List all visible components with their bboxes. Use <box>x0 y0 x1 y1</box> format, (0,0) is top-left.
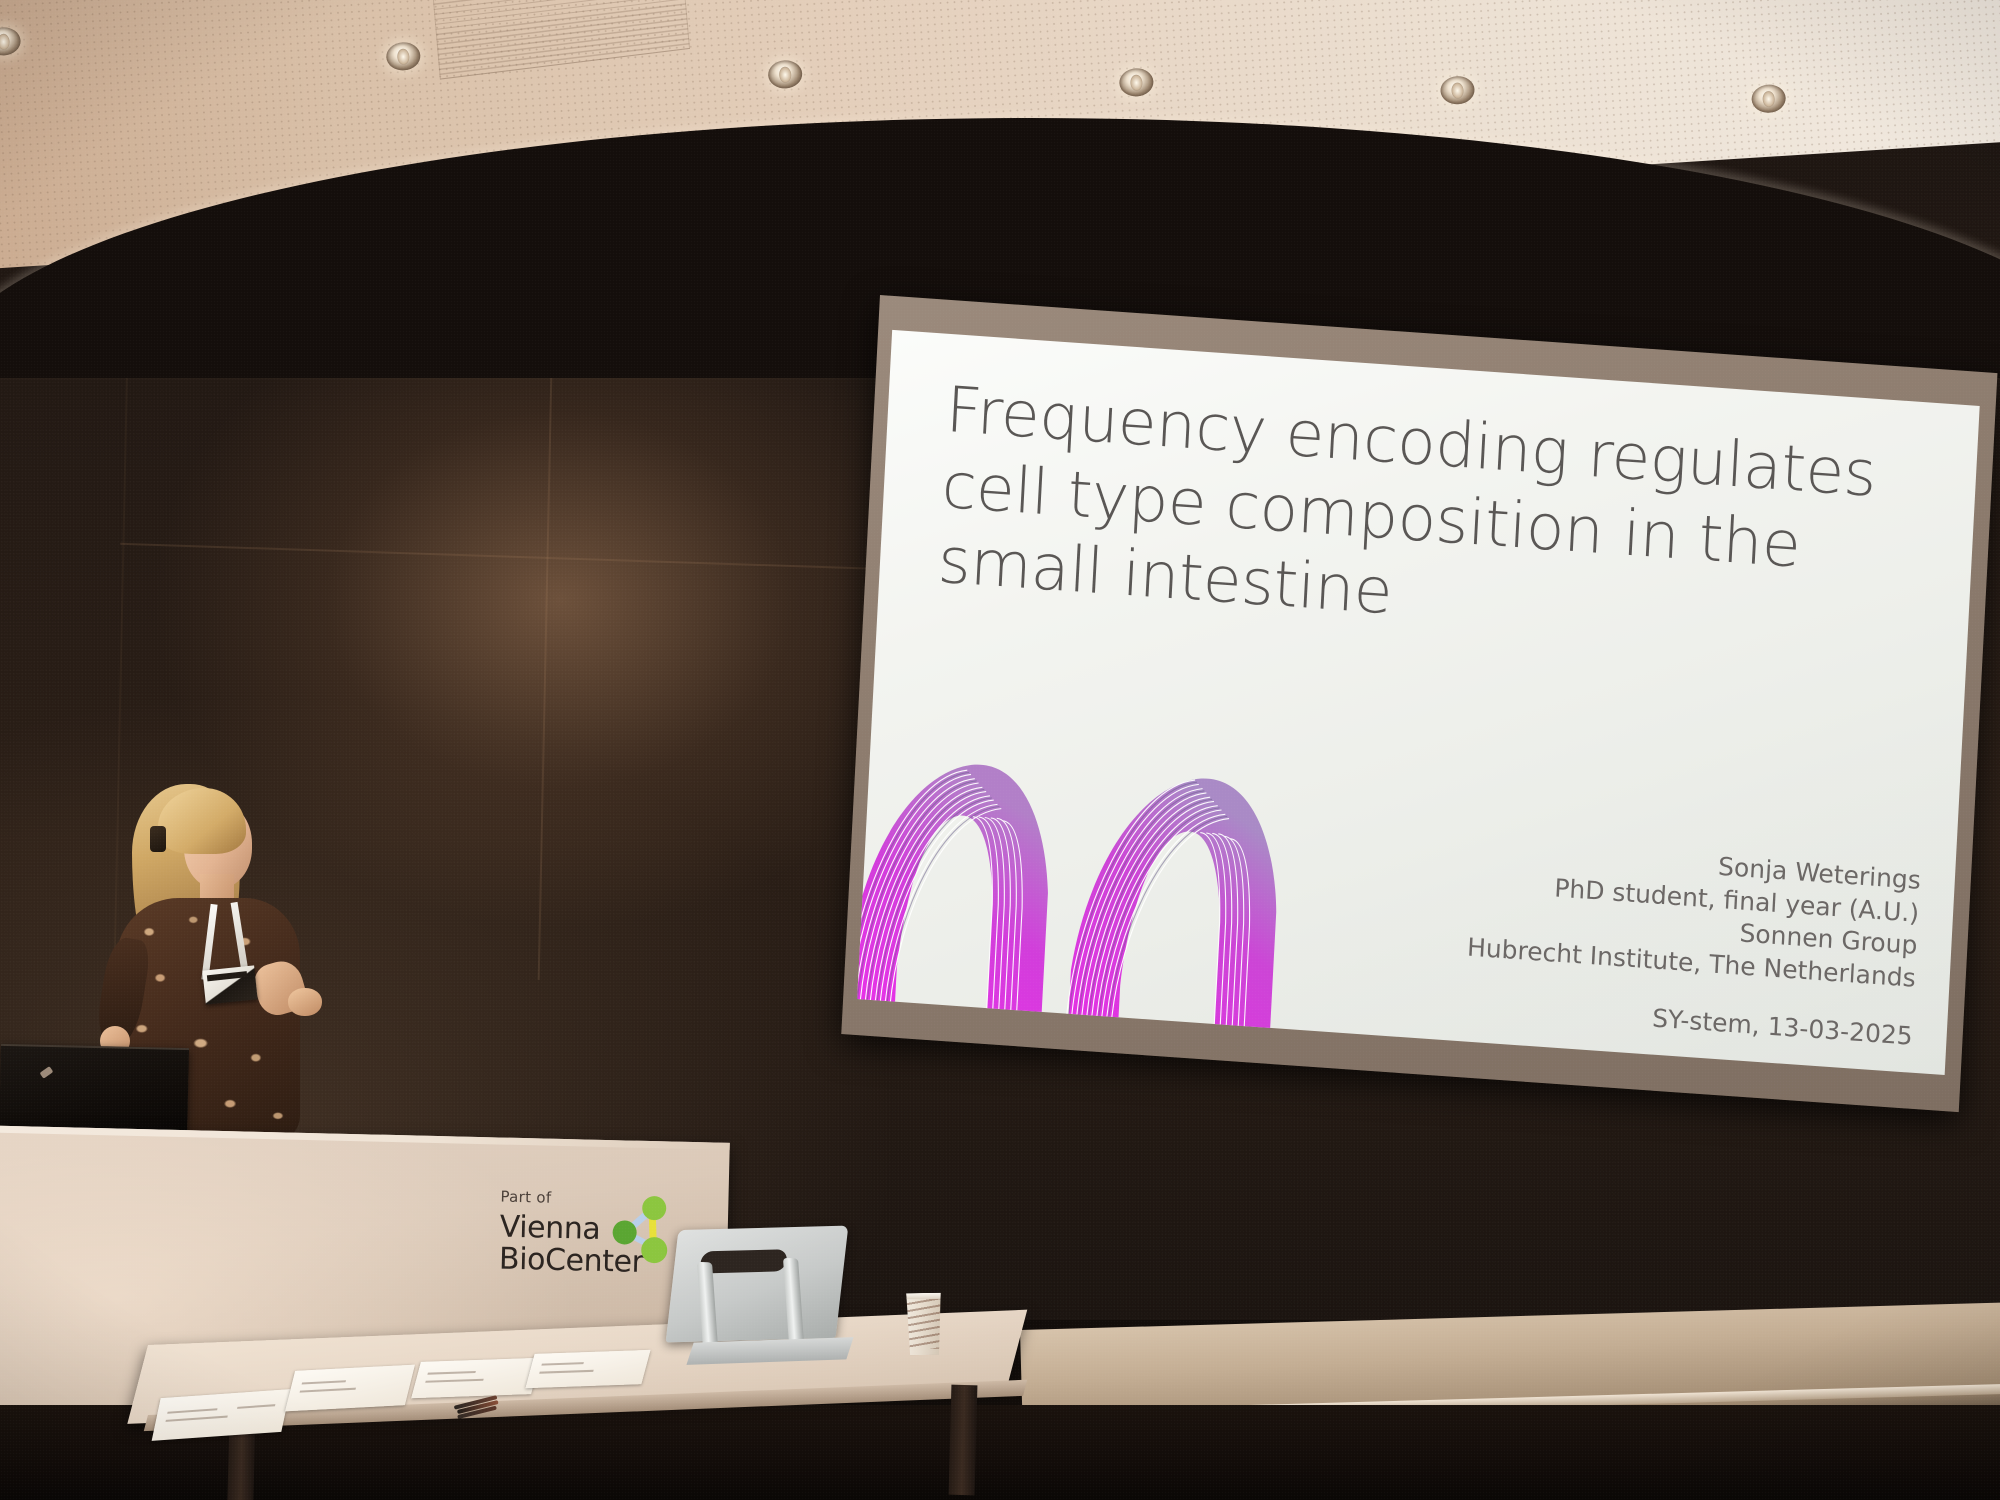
logo-molecule-icon <box>609 1194 673 1267</box>
vienna-biocenter-logo: Part of Vienna BioCenter <box>498 1188 660 1287</box>
laptop-on-stand <box>666 1226 849 1343</box>
coffee-cup <box>903 1293 944 1356</box>
cup-rim <box>903 1293 943 1300</box>
conference-badge <box>202 965 257 1004</box>
projection-screen: Frequency encoding regulates cell type c… <box>841 295 1997 1112</box>
table-leg-right <box>949 1385 978 1496</box>
laptop-stand-slot <box>699 1249 787 1273</box>
speaker-right-hand <box>288 988 322 1016</box>
paper-sheet-2 <box>285 1365 415 1412</box>
logo-part-of-text: Part of <box>500 1188 551 1207</box>
cup-print-pattern <box>906 1299 943 1350</box>
slide-event-footer: SY-stem, 13-03-2025 <box>1652 1004 1914 1051</box>
slide-attribution: Sonja Weterings PhD student, final year … <box>1466 834 1921 995</box>
monitor-reflection <box>40 1066 54 1079</box>
presentation-photo: Frequency encoding regulates cell type c… <box>0 0 2000 1500</box>
magenta-ribbon-graphic <box>857 704 1411 1043</box>
paper-sheet-3 <box>411 1358 541 1399</box>
hair-clip <box>150 826 166 852</box>
speaker-hair-top <box>158 788 246 854</box>
paper-sheet-4 <box>525 1350 650 1388</box>
slide-title: Frequency encoding regulates cell type c… <box>936 372 1905 665</box>
slide-surface: Frequency encoding regulates cell type c… <box>857 330 1980 1075</box>
badge-strip <box>207 971 247 981</box>
